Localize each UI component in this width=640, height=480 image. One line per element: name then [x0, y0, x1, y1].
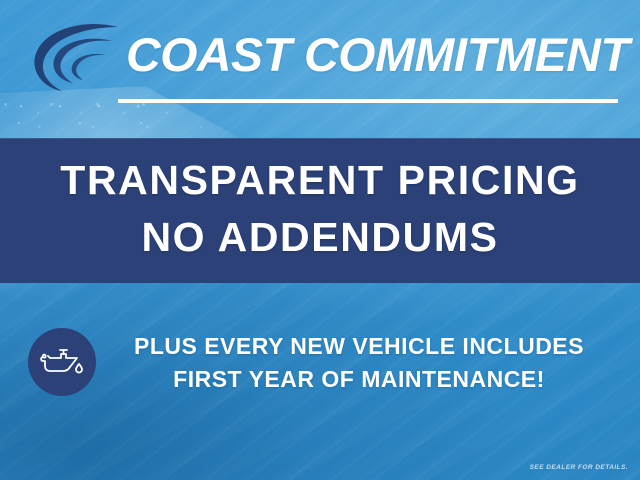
page-title: COAST COMMITMENT — [126, 24, 636, 86]
promo-text-block: PLUS EVERY NEW VEHICLE INCLUDES FIRST YE… — [104, 330, 614, 396]
headline-no-addendums: NO ADDENDUMS — [0, 213, 640, 261]
legal-disclaimer: SEE DEALER FOR DETAILS. — [530, 464, 628, 471]
headline-transparent-pricing: TRANSPARENT PRICING — [0, 156, 640, 204]
promo-line-2: FIRST YEAR OF MAINTENANCE! — [104, 363, 614, 396]
promo-line-1: PLUS EVERY NEW VEHICLE INCLUDES — [104, 330, 614, 363]
coast-commitment-ad-banner: COAST COMMITMENT TRANSPARENT PRICING NO … — [0, 0, 640, 480]
maintenance-promo: PLUS EVERY NEW VEHICLE INCLUDES FIRST YE… — [0, 320, 640, 410]
headline-band: TRANSPARENT PRICING NO ADDENDUMS — [0, 138, 640, 283]
banner-header: COAST COMMITMENT — [0, 0, 640, 138]
oil-can-badge — [28, 328, 96, 396]
header-divider — [118, 99, 618, 103]
coast-wave-logo-icon — [26, 17, 130, 95]
